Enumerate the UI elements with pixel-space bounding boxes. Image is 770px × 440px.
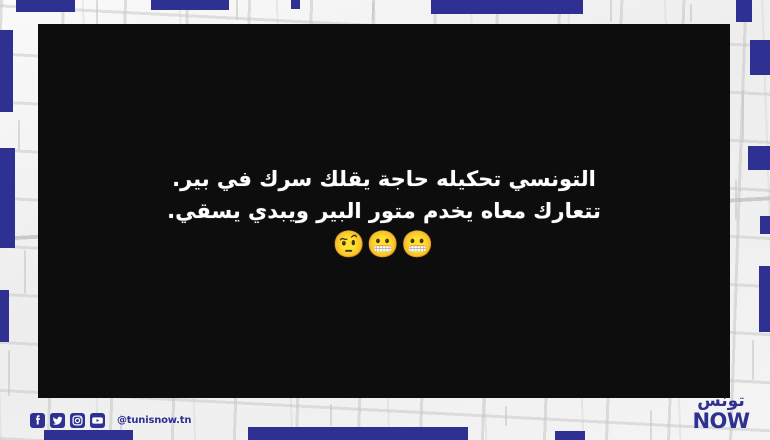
pavement-crack-3 [372,2,374,20]
pavement-crack-7 [24,250,26,294]
social-handle[interactable]: @tunisnow.tn [117,415,191,426]
block-left-2 [0,148,15,248]
pavement-crack-4 [610,0,612,22]
pavement-crack-8 [8,350,10,396]
card-line-1: التونسي تحكيله حاجة يقلك سرك في بير. [72,164,696,196]
card-line-2: تتعارك معاه يخدم متور البير ويبدي يسقي. [72,196,696,228]
block-right-4 [759,266,770,332]
pavement-crack-1 [96,0,98,24]
pavement-crack-5 [690,4,692,22]
block-top-1 [16,0,75,12]
block-right-3 [760,216,770,234]
card-text-block: التونسي تحكيله حاجة يقلك سرك في بير. تتع… [38,164,730,260]
youtube-icon[interactable] [90,413,105,428]
pavement-crack-6 [18,120,20,150]
block-top-2 [151,0,229,10]
block-top-3 [291,0,300,9]
pavement-crack-10 [735,180,737,220]
social-links: @tunisnow.tn [30,413,191,428]
pavement-crack-2 [236,0,238,20]
block-left-1 [0,30,13,112]
image-canvas: التونسي تحكيله حاجة يقلك سرك في بير. تتع… [0,0,770,440]
instagram-icon[interactable] [70,413,85,428]
twitter-icon[interactable] [50,413,65,428]
block-left-3 [0,290,9,342]
facebook-icon[interactable] [30,413,45,428]
brand-logo-arabic: تونس [684,393,758,410]
brand-logo[interactable]: تونس NOW [684,393,758,432]
block-top-4 [431,0,583,14]
footer: @tunisnow.tn تونس NOW [0,398,770,440]
brand-logo-latin: NOW [684,411,758,432]
block-top-5 [736,0,752,22]
block-right-2 [748,146,770,170]
content-card: التونسي تحكيله حاجة يقلك سرك في بير. تتع… [38,24,730,398]
block-right-1 [750,40,770,75]
emoji-row: 🤨😬😬 [72,231,696,260]
pavement-crack-11 [752,340,754,380]
pavement-crack-9 [742,90,744,142]
